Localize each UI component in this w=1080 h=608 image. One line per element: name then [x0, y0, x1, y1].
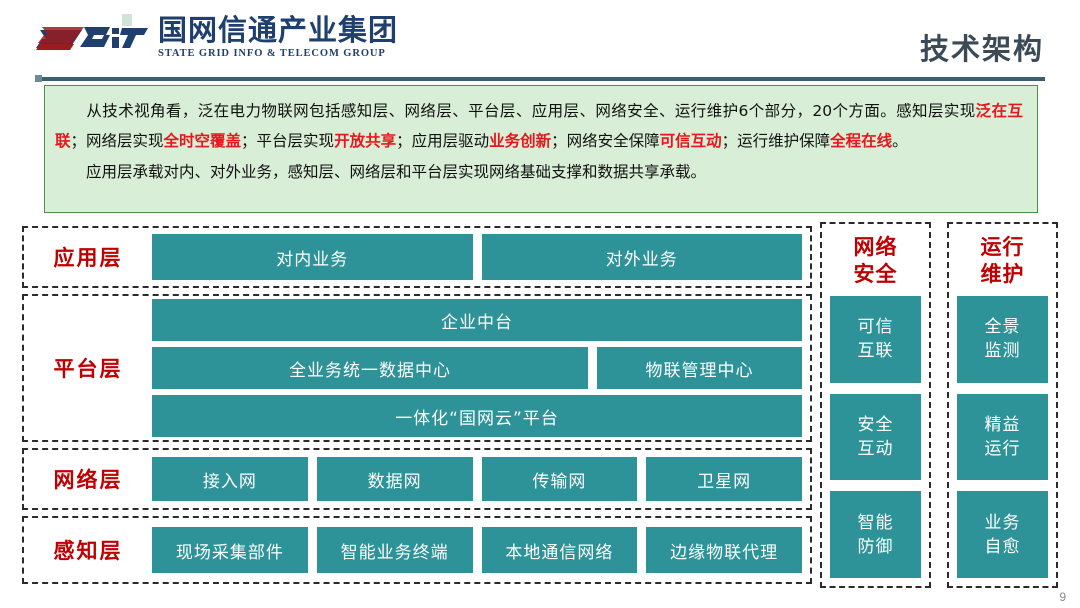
tile-line1: 业务: [985, 511, 1021, 535]
tile-iot-management-center[interactable]: 物联管理中心: [597, 347, 802, 389]
summary-text-1: 从技术视角看，泛在电力物联网包括感知层、网络层、平台层、应用层、网络安全、运行维…: [86, 102, 976, 120]
column-title-line2: 安全: [830, 261, 921, 288]
tile-line2: 监测: [985, 339, 1021, 363]
tile-lean-operation[interactable]: 精益 运行: [957, 394, 1048, 481]
tile-state-grid-cloud-platform[interactable]: 一体化“国网云”平台: [152, 395, 802, 437]
tile-field-acquisition-components[interactable]: 现场采集部件: [152, 527, 308, 573]
tile-line1: 智能: [858, 511, 894, 535]
layer-body-platform: 企业中台 全业务统一数据中心 物联管理中心 一体化“国网云”平台: [152, 299, 810, 437]
layer-label-sensing: 感知层: [24, 535, 152, 565]
layer-row: 接入网 数据网 传输网 卫星网: [152, 457, 802, 501]
page-title: 技术架构: [920, 26, 1044, 68]
logo-company-name-en: STATE GRID INFO & TELECOM GROUP: [158, 48, 398, 59]
layer-label-platform: 平台层: [24, 353, 152, 383]
summary-text-7: 。: [892, 132, 908, 150]
column-title-line1: 网络: [830, 234, 921, 261]
column-operation-maintenance: 运行 维护 全景 监测 精益 运行 业务 自愈: [947, 222, 1058, 588]
column-title-network-security: 网络 安全: [830, 230, 921, 296]
highlight-business-innovation: 业务创新: [489, 132, 551, 150]
highlight-open-sharing: 开放共享: [334, 132, 396, 150]
sgit-logo-icon: [36, 14, 148, 60]
page-number: 9: [1059, 590, 1066, 604]
tile-transmission-network[interactable]: 传输网: [482, 457, 638, 501]
tile-internal-business[interactable]: 对内业务: [152, 234, 473, 280]
layer-body-network: 接入网 数据网 传输网 卫星网: [152, 457, 810, 501]
column-title-line1: 运行: [957, 234, 1048, 261]
column-network-security: 网络 安全 可信 互联 安全 互动 智能 防御: [820, 222, 931, 588]
summary-paragraph-1: 从技术视角看，泛在电力物联网包括感知层、网络层、平台层、应用层、网络安全、运行维…: [55, 96, 1023, 156]
tile-panoramic-monitoring[interactable]: 全景 监测: [957, 296, 1048, 383]
tile-smart-business-terminal[interactable]: 智能业务终端: [317, 527, 473, 573]
layer-sensing: 感知层 现场采集部件 智能业务终端 本地通信网络 边缘物联代理: [22, 516, 812, 584]
column-tiles-operation-maintenance: 全景 监测 精益 运行 业务 自愈: [957, 296, 1048, 578]
tile-line2: 防御: [858, 535, 894, 559]
summary-text-6: ；运行维护保障: [722, 132, 831, 150]
layer-row: 企业中台: [152, 299, 802, 341]
column-title-operation-maintenance: 运行 维护: [957, 230, 1048, 296]
tile-business-self-healing[interactable]: 业务 自愈: [957, 491, 1048, 578]
tile-line2: 运行: [985, 437, 1021, 461]
column-tiles-network-security: 可信 互联 安全 互动 智能 防御: [830, 296, 921, 578]
summary-text-4: ；应用层驱动: [396, 132, 489, 150]
layer-stack: 应用层 对内业务 对外业务 平台层 企业中台 全业务统一数据中心 物联管理中心: [22, 222, 812, 588]
summary-panel: 从技术视角看，泛在电力物联网包括感知层、网络层、平台层、应用层、网络安全、运行维…: [44, 85, 1038, 213]
summary-text-3: ；平台层实现: [241, 132, 334, 150]
layer-row: 全业务统一数据中心 物联管理中心: [152, 347, 802, 389]
summary-paragraph-2: 应用层承载对内、对外业务，感知层、网络层和平台层实现网络基础支撑和数据共享承载。: [55, 157, 1023, 187]
layer-application: 应用层 对内业务 对外业务: [22, 226, 812, 288]
summary-text-5: ；网络安全保障: [551, 132, 660, 150]
layer-row: 对内业务 对外业务: [152, 234, 802, 280]
tile-line2: 互联: [858, 339, 894, 363]
brand-logo: 国网信通产业集团 STATE GRID INFO & TELECOM GROUP: [36, 14, 398, 60]
tile-enterprise-middle-platform[interactable]: 企业中台: [152, 299, 802, 341]
architecture-diagram: 应用层 对内业务 对外业务 平台层 企业中台 全业务统一数据中心 物联管理中心: [22, 222, 1058, 588]
tile-edge-iot-agent[interactable]: 边缘物联代理: [646, 527, 802, 573]
layer-platform: 平台层 企业中台 全业务统一数据中心 物联管理中心 一体化“国网云”平台: [22, 294, 812, 442]
column-title-line2: 维护: [957, 261, 1048, 288]
layer-network: 网络层 接入网 数据网 传输网 卫星网: [22, 448, 812, 510]
layer-label-network: 网络层: [24, 464, 152, 494]
tile-line2: 互动: [858, 437, 894, 461]
tile-data-network[interactable]: 数据网: [317, 457, 473, 501]
tile-trusted-interconnection[interactable]: 可信 互联: [830, 296, 921, 383]
layer-row: 一体化“国网云”平台: [152, 395, 802, 437]
highlight-trusted-interaction: 可信互动: [660, 132, 722, 150]
layer-label-application: 应用层: [24, 242, 152, 272]
summary-text-2: ；网络层实现: [71, 132, 164, 150]
tile-line2: 自愈: [985, 535, 1021, 559]
tile-local-communication-network[interactable]: 本地通信网络: [482, 527, 638, 573]
page-header: 国网信通产业集团 STATE GRID INFO & TELECOM GROUP…: [0, 0, 1080, 78]
tile-line1: 全景: [985, 315, 1021, 339]
tile-satellite-network[interactable]: 卫星网: [646, 457, 802, 501]
tile-line1: 可信: [858, 315, 894, 339]
highlight-full-process-online: 全程在线: [830, 132, 892, 150]
highlight-full-spacetime-coverage: 全时空覆盖: [164, 132, 242, 150]
layer-row: 现场采集部件 智能业务终端 本地通信网络 边缘物联代理: [152, 527, 802, 573]
tile-external-business[interactable]: 对外业务: [482, 234, 803, 280]
tile-line1: 安全: [858, 413, 894, 437]
tile-line1: 精益: [985, 413, 1021, 437]
tile-intelligent-defense[interactable]: 智能 防御: [830, 491, 921, 578]
header-divider-cap: [35, 75, 42, 82]
layer-body-sensing: 现场采集部件 智能业务终端 本地通信网络 边缘物联代理: [152, 527, 810, 573]
tile-access-network[interactable]: 接入网: [152, 457, 308, 501]
logo-company-name-cn: 国网信通产业集团: [158, 15, 398, 45]
header-divider: [35, 77, 1045, 81]
side-column-stack: 网络 安全 可信 互联 安全 互动 智能 防御 运行: [820, 222, 1058, 588]
tile-secure-interaction[interactable]: 安全 互动: [830, 394, 921, 481]
layer-body-application: 对内业务 对外业务: [152, 234, 810, 280]
tile-unified-data-center[interactable]: 全业务统一数据中心: [152, 347, 588, 389]
